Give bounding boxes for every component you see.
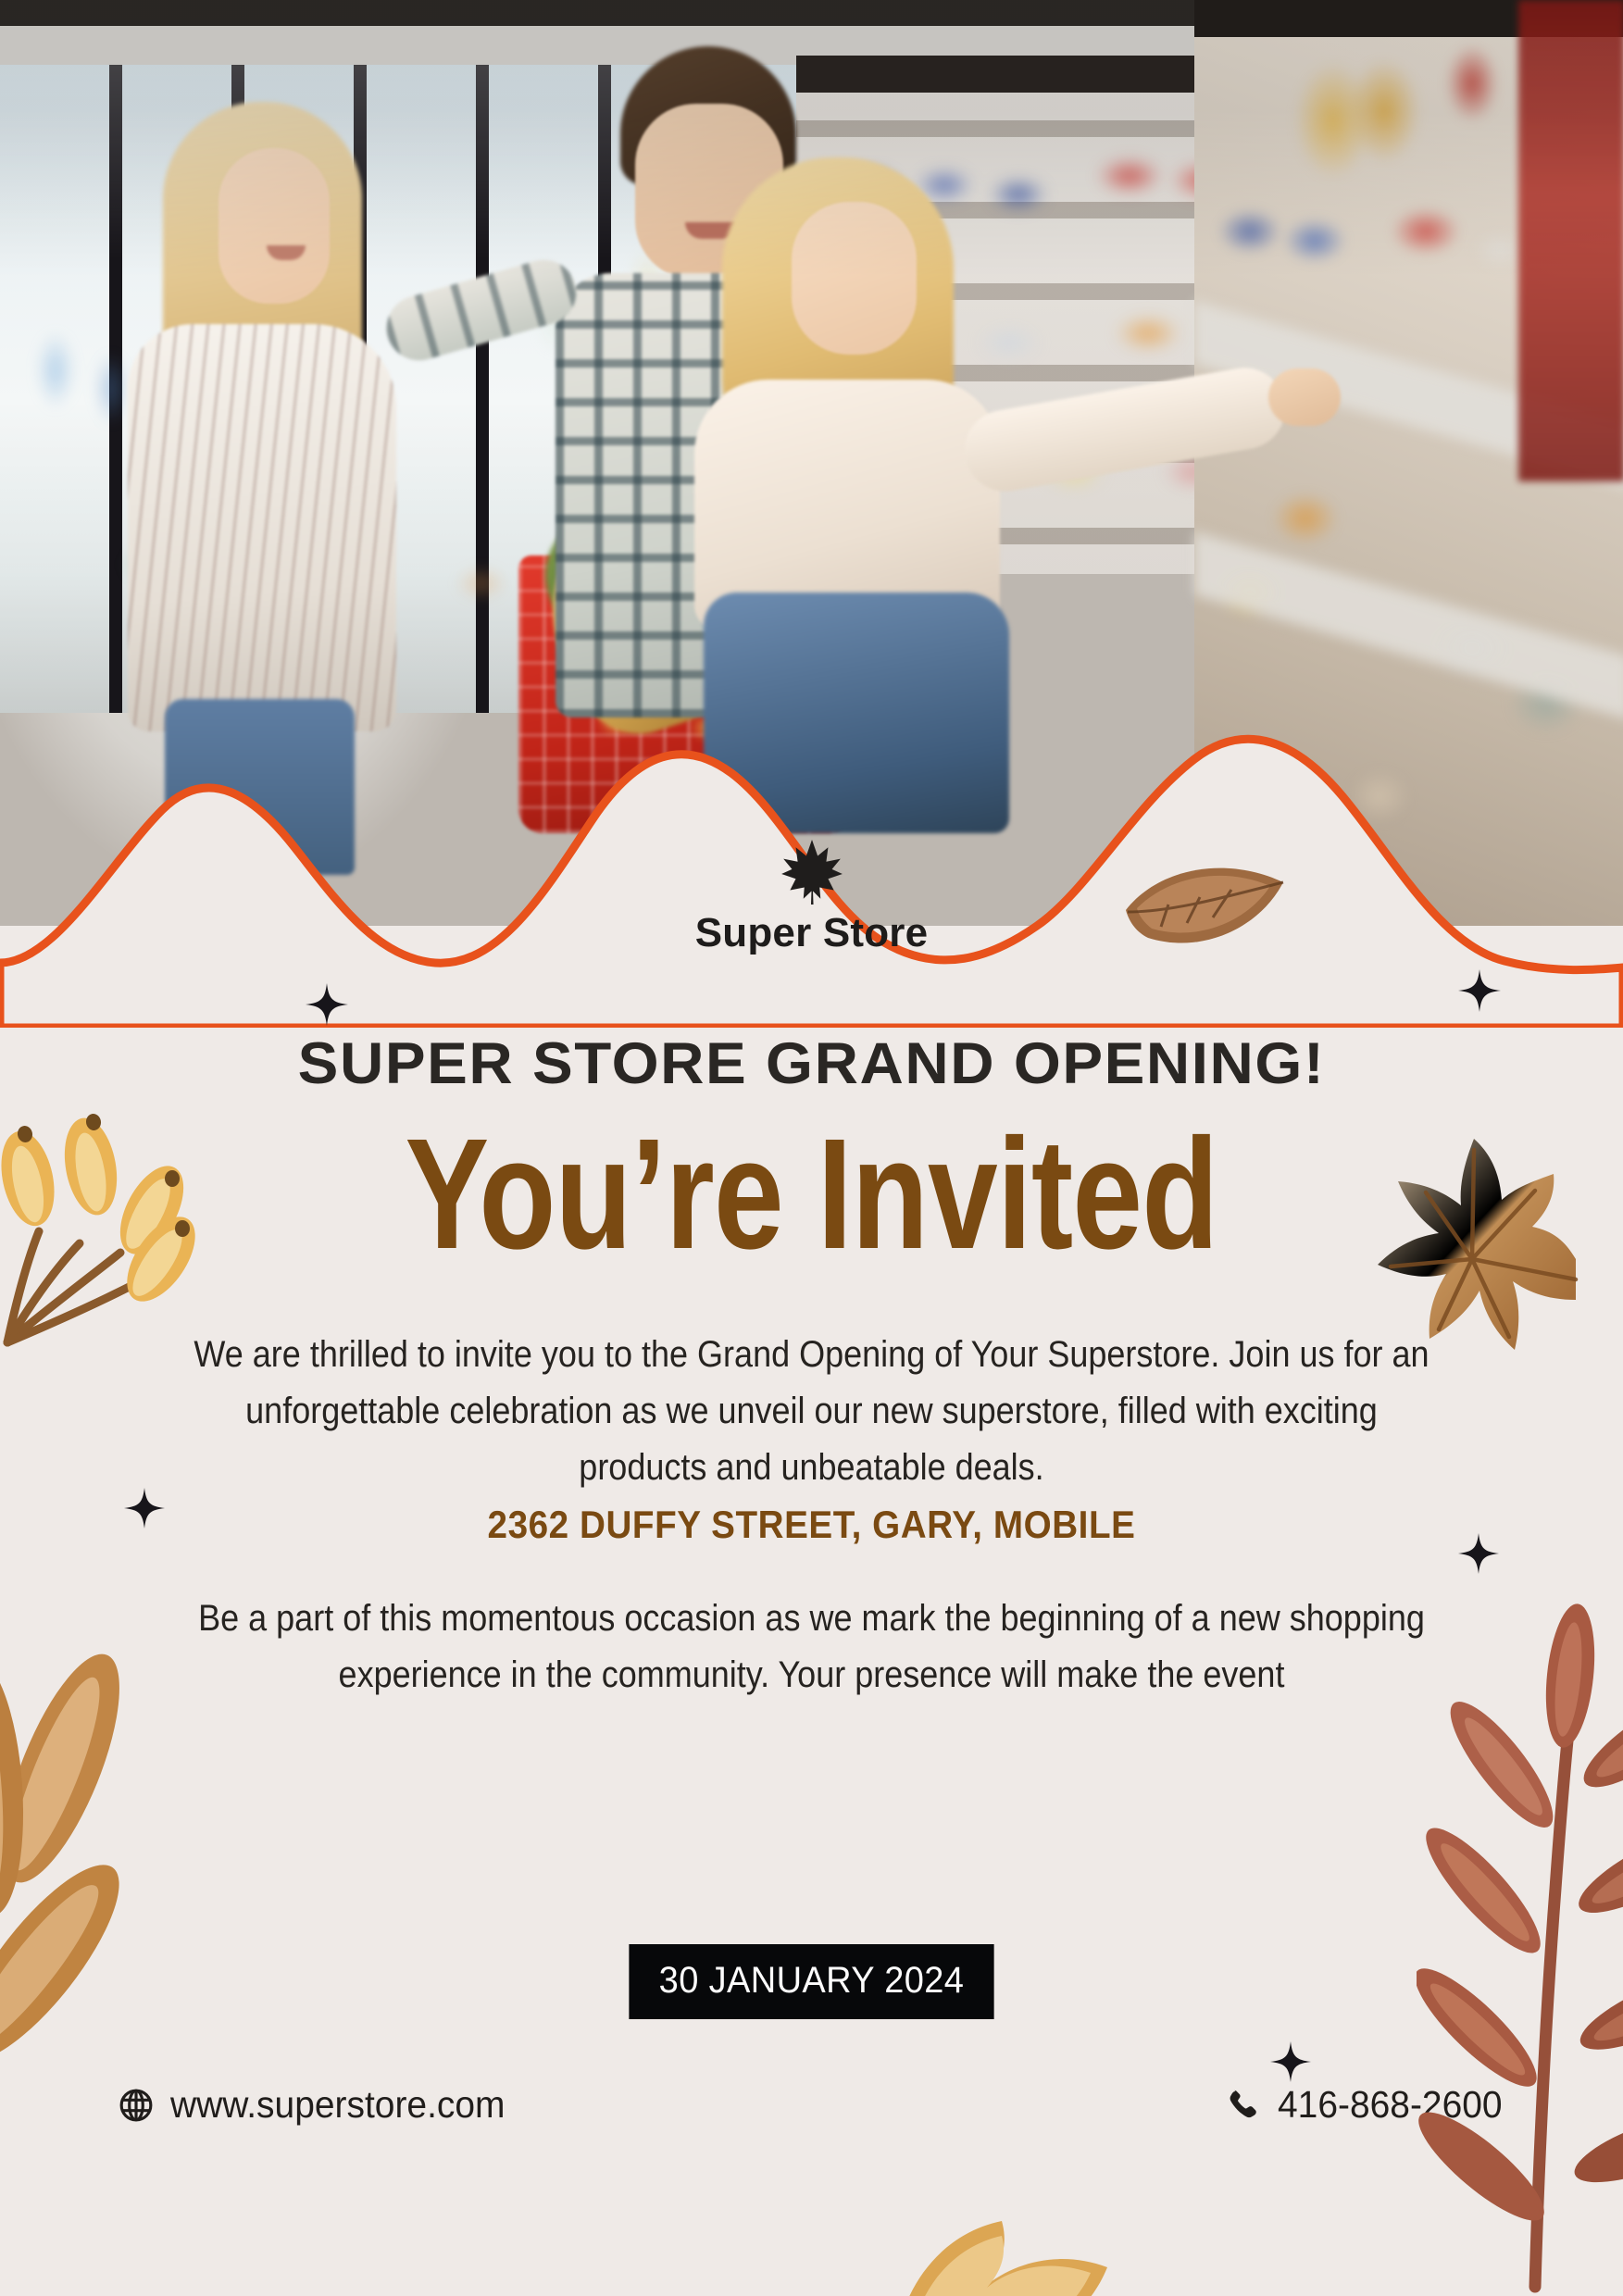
event-address: 2362 DUFFY STREET, GARY, MOBILE (65, 1503, 1558, 1547)
website-text: www.superstore.com (170, 2083, 505, 2127)
brand-block: Super Store (0, 838, 1623, 956)
phone-text: 416-868-2600 (1278, 2083, 1503, 2127)
invitation-content: Super Store SUPER STORE GRAND OPENING! Y… (0, 838, 1623, 2296)
website-link[interactable]: www.superstore.com (119, 2083, 523, 2127)
event-date-badge: 30 JANUARY 2024 (629, 1944, 993, 2019)
globe-icon (119, 2088, 154, 2123)
maple-leaf-icon (781, 838, 843, 906)
paragraph-intro: We are thrilled to invite you to the Gra… (181, 1327, 1442, 1495)
invitation-poster: Super Store SUPER STORE GRAND OPENING! Y… (0, 0, 1623, 2296)
paragraph-closing: Be a part of this momentous occasion as … (181, 1591, 1442, 1703)
phone-link[interactable]: 416-868-2600 (1226, 2083, 1514, 2127)
footer: www.superstore.com 416-868-2600 (0, 2083, 1623, 2166)
headline: SUPER STORE GRAND OPENING! (0, 1030, 1623, 1097)
date-wrapper: 30 JANUARY 2024 (0, 1944, 1623, 2019)
phone-icon (1226, 2088, 1261, 2123)
brand-name: Super Store (0, 910, 1623, 956)
page-title: You’re Invited (162, 1108, 1460, 1281)
